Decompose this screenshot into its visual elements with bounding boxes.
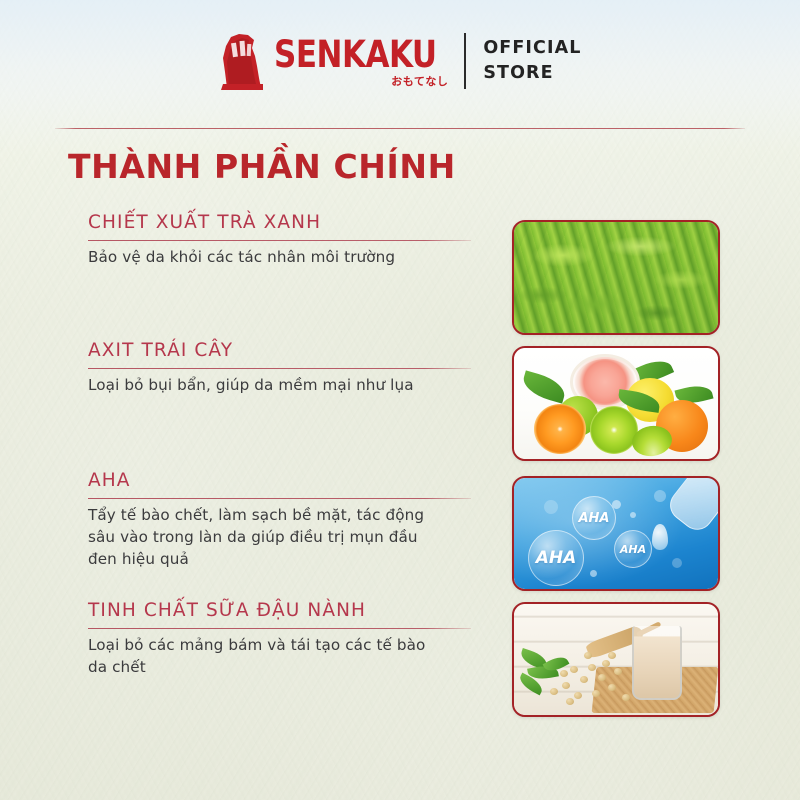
ingredient-row-soy-milk: TINH CHẤT SỮA ĐẬU NÀNH Loại bỏ các mảng … (0, 600, 800, 720)
droplet-icon (652, 524, 668, 550)
soybean-shape (614, 668, 622, 675)
soybean-shape (584, 652, 592, 659)
leaf-shape-icon (520, 370, 568, 403)
ingredient-text-block: AXIT TRÁI CÂY Loại bỏ bụi bẩn, giúp da m… (88, 340, 508, 397)
ingredient-underline (88, 628, 471, 629)
sparkle-icon (612, 500, 621, 509)
soybean-shape (566, 698, 574, 705)
aha-bubble: AHA (572, 496, 616, 540)
citrus-artwork (514, 348, 718, 459)
lime-half-shape (590, 406, 638, 454)
ingredient-heading: AHA (88, 470, 508, 491)
sparkle-icon (630, 512, 636, 518)
soybean-shape (602, 660, 610, 667)
official-store-label: OFFICIAL STORE (483, 40, 581, 82)
ingredient-underline (88, 368, 471, 369)
orange-half-shape (534, 404, 586, 454)
soybean-shape (574, 692, 582, 699)
ingredient-text-block: AHA Tẩy tế bào chết, làm sạch bề mặt, tá… (88, 470, 508, 570)
sparkle-icon (672, 558, 682, 568)
ingredient-row-aha: AHA Tẩy tế bào chết, làm sạch bề mặt, tá… (0, 470, 800, 600)
soybean-shape (570, 666, 578, 673)
ingredient-list: CHIẾT XUẤT TRÀ XANH Bảo vệ da khỏi các t… (0, 212, 800, 720)
ingredient-underline (88, 498, 471, 499)
brand-lockup[interactable]: SENKAKU おもてなし OFFICIAL STORE (219, 32, 582, 90)
soybean-shape (598, 674, 606, 681)
aha-artwork: AHA AHA AHA (514, 478, 718, 589)
brand-name: SENKAKU (274, 36, 437, 73)
thumbnail-inner (514, 348, 718, 459)
aha-bubble: AHA (528, 530, 584, 586)
tea-leaves-artwork (514, 222, 718, 333)
thumbnail-inner (514, 222, 718, 333)
header: SENKAKU おもてなし OFFICIAL STORE (0, 0, 800, 118)
soybean-shape (592, 690, 600, 697)
brand-japanese-subtitle: おもてなし (391, 76, 448, 87)
infographic-page: Faded tea plantation terraces background… (0, 0, 800, 800)
soy-milk-artwork (514, 604, 718, 715)
senkaku-rock-logo-icon (219, 32, 265, 90)
soybean-shape (588, 664, 596, 671)
brand-wordmark: SENKAKU おもてなし (274, 36, 449, 87)
ingredient-row-green-tea: CHIẾT XUẤT TRÀ XANH Bảo vệ da khỏi các t… (0, 212, 800, 340)
ingredient-heading: CHIẾT XUẤT TRÀ XANH (88, 212, 508, 233)
aha-bubbles-photo[interactable]: AHA AHA AHA Blue bubbles labelled AHA wi… (512, 476, 720, 591)
ingredient-heading: AXIT TRÁI CÂY (88, 340, 508, 361)
header-divider-rule (55, 128, 745, 129)
citrus-fruits-photo[interactable]: Assorted citrus fruits: grapefruit, oran… (512, 346, 720, 461)
soybean-shape (622, 694, 630, 701)
ingredient-description: Tẩy tế bào chết, làm sạch bề mặt, tác độ… (88, 505, 438, 570)
ingredient-underline (88, 240, 471, 241)
thumbnail-inner: AHA AHA AHA (514, 478, 718, 589)
sparkle-icon (544, 500, 558, 514)
ingredient-description: Bảo vệ da khỏi các tác nhân môi trường (88, 247, 438, 269)
pipette-icon (664, 478, 718, 536)
vertical-divider-icon (464, 33, 466, 89)
soybean-shape (608, 684, 616, 691)
aha-bubble: AHA (614, 530, 652, 568)
ingredient-description: Loại bỏ các mảng bám và tái tạo các tế b… (88, 635, 438, 678)
ingredient-text-block: TINH CHẤT SỮA ĐẬU NÀNH Loại bỏ các mảng … (88, 600, 508, 679)
soybean-shape (608, 652, 616, 659)
soybean-shape (550, 688, 558, 695)
ingredient-text-block: CHIẾT XUẤT TRÀ XANH Bảo vệ da khỏi các t… (88, 212, 508, 269)
thumbnail-inner (514, 604, 718, 715)
sparkle-icon (590, 570, 597, 577)
ingredient-row-fruit-acid: AXIT TRÁI CÂY Loại bỏ bụi bẩn, giúp da m… (0, 340, 800, 470)
store-label: STORE (483, 65, 581, 83)
soybean-shape (580, 676, 588, 683)
ingredient-description: Loại bỏ bụi bẩn, giúp da mềm mại như lụa (88, 375, 438, 397)
sparkle-icon (654, 490, 666, 502)
page-title: THÀNH PHẦN CHÍNH (68, 147, 456, 186)
soy-milk-photo[interactable]: Glass of soy milk beside soybeans and a … (512, 602, 720, 717)
soybean-shape (562, 682, 570, 689)
soybean-shape (560, 670, 568, 677)
official-label: OFFICIAL (483, 40, 581, 58)
ingredient-heading: TINH CHẤT SỮA ĐẬU NÀNH (88, 600, 508, 621)
green-tea-leaves-photo[interactable]: Green tea leaves growing on a tea planta… (512, 220, 720, 335)
milk-glass-shape (632, 626, 682, 700)
